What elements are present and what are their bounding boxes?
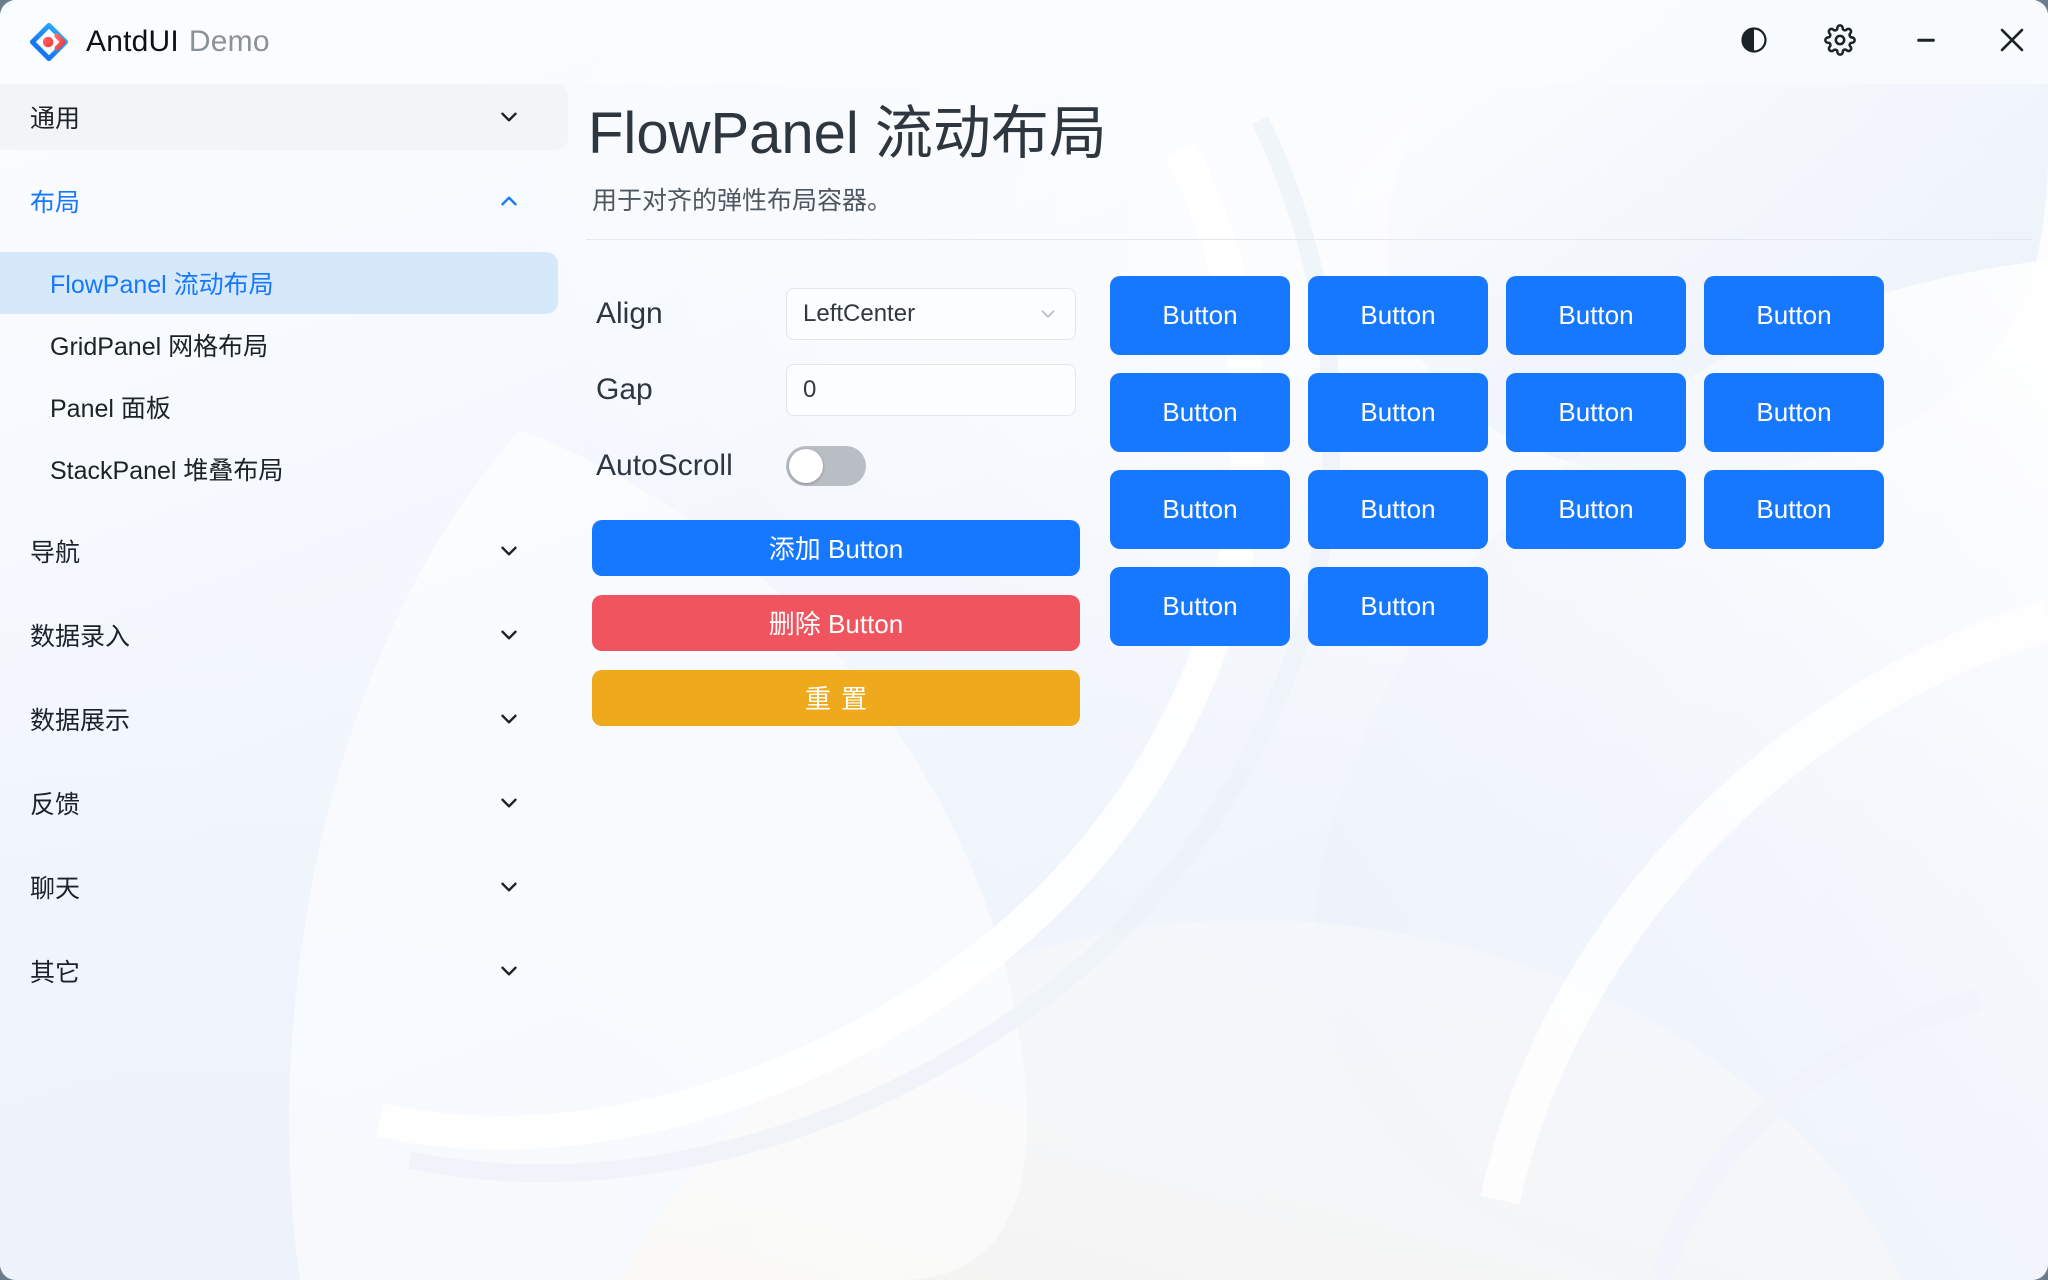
- reset-button-action[interactable]: 重置: [592, 670, 1080, 726]
- settings-button[interactable]: [1804, 11, 1876, 73]
- app-window: AntdUIDemo: [0, 0, 2048, 1280]
- app-title-name: AntdUI: [86, 25, 179, 58]
- flow-item-button[interactable]: Button: [1704, 373, 1884, 452]
- flow-item-button[interactable]: Button: [1506, 470, 1686, 549]
- close-button[interactable]: [1976, 11, 2048, 73]
- page-description: 用于对齐的弹性布局容器。: [592, 181, 2008, 217]
- sidebar-gap: [0, 500, 568, 518]
- sidebar-navigation: 通用 布局 FlowPanel 流动布局 GridPanel 网格布局: [0, 84, 568, 1280]
- demo-area: Align LeftCenter Gap: [582, 240, 2048, 1280]
- minimize-button[interactable]: [1890, 11, 1962, 73]
- sidebar-item-panel[interactable]: Panel 面板: [0, 376, 558, 438]
- flow-item-button[interactable]: Button: [1506, 276, 1686, 355]
- flow-item-button[interactable]: Button: [1308, 373, 1488, 452]
- sidebar-group-label: 导航: [30, 533, 496, 569]
- close-icon: [1995, 23, 2029, 62]
- sidebar-group-label: 数据展示: [30, 701, 496, 737]
- gap-label: Gap: [586, 373, 786, 407]
- minimize-icon: [1911, 25, 1941, 60]
- sidebar-group-buju[interactable]: 布局: [0, 168, 568, 234]
- sidebar-item-gridpanel[interactable]: GridPanel 网格布局: [0, 314, 558, 376]
- sidebar-item-label: StackPanel 堆叠布局: [50, 451, 283, 487]
- app-title: AntdUIDemo: [86, 25, 270, 59]
- flow-item-button[interactable]: Button: [1704, 470, 1884, 549]
- flow-item-button[interactable]: Button: [1308, 470, 1488, 549]
- sidebar-gap: [0, 920, 568, 938]
- app-title-suffix: Demo: [189, 25, 270, 58]
- sidebar-group-shujuluru[interactable]: 数据录入: [0, 602, 568, 668]
- flow-item-button[interactable]: Button: [1110, 276, 1290, 355]
- chevron-down-icon: [496, 538, 522, 564]
- sidebar-item-label: FlowPanel 流动布局: [50, 265, 274, 301]
- autoscroll-toggle[interactable]: [786, 446, 866, 486]
- align-select[interactable]: LeftCenter: [786, 288, 1076, 340]
- contrast-icon: [1739, 25, 1769, 60]
- sidebar-gap: [0, 584, 568, 602]
- title-bar: AntdUIDemo: [0, 0, 2048, 84]
- sidebar-gap: [0, 668, 568, 686]
- gap-input-value: 0: [803, 376, 816, 404]
- theme-toggle-button[interactable]: [1718, 11, 1790, 73]
- sidebar-group-label: 聊天: [30, 869, 496, 905]
- flow-item-button[interactable]: Button: [1308, 276, 1488, 355]
- sidebar-gap: [0, 752, 568, 770]
- add-button-action[interactable]: 添加 Button: [592, 520, 1080, 576]
- sidebar-item-stackpanel[interactable]: StackPanel 堆叠布局: [0, 438, 558, 500]
- sidebar-group-fankui[interactable]: 反馈: [0, 770, 568, 836]
- sidebar-item-flowpanel[interactable]: FlowPanel 流动布局: [0, 252, 558, 314]
- autoscroll-control: [786, 446, 1096, 486]
- gear-icon: [1824, 24, 1856, 61]
- sidebar-group-label: 布局: [30, 183, 496, 219]
- sidebar-item-label: GridPanel 网格布局: [50, 327, 268, 363]
- flow-item-button[interactable]: Button: [1506, 373, 1686, 452]
- autoscroll-row: AutoScroll: [586, 428, 1096, 504]
- align-control: LeftCenter: [786, 288, 1096, 340]
- window-body: 通用 布局 FlowPanel 流动布局 GridPanel 网格布局: [0, 84, 2048, 1280]
- sidebar-group-label: 数据录入: [30, 617, 496, 653]
- sidebar-gap: [0, 150, 568, 168]
- flow-item-button[interactable]: Button: [1110, 373, 1290, 452]
- chevron-down-icon: [496, 104, 522, 130]
- sidebar-group-label: 反馈: [30, 785, 496, 821]
- flow-item-button[interactable]: Button: [1704, 276, 1884, 355]
- chevron-down-icon: [496, 706, 522, 732]
- sidebar-gap: [0, 234, 568, 252]
- flow-panel: ButtonButtonButtonButtonButtonButtonButt…: [1110, 276, 1910, 664]
- page-title: FlowPanel 流动布局: [588, 98, 2008, 171]
- chevron-down-icon: [1037, 303, 1059, 325]
- align-row: Align LeftCenter: [586, 276, 1096, 352]
- main-content: FlowPanel 流动布局 用于对齐的弹性布局容器。 Align LeftCe…: [568, 84, 2048, 1280]
- page-header: FlowPanel 流动布局 用于对齐的弹性布局容器。: [582, 84, 2048, 217]
- sidebar-group-daohang[interactable]: 导航: [0, 518, 568, 584]
- align-label: Align: [586, 297, 786, 331]
- sidebar-group-liaotian[interactable]: 聊天: [0, 854, 568, 920]
- sidebar-group-shujuzhanshi[interactable]: 数据展示: [0, 686, 568, 752]
- flow-item-button[interactable]: Button: [1110, 567, 1290, 646]
- chevron-up-icon: [496, 188, 522, 214]
- delete-button-action[interactable]: 删除 Button: [592, 595, 1080, 651]
- sidebar-group-tongyong[interactable]: 通用: [0, 84, 568, 150]
- sidebar-gap: [0, 836, 568, 854]
- sidebar-group-qita[interactable]: 其它: [0, 938, 568, 1004]
- gap-control: 0: [786, 364, 1096, 416]
- sidebar-item-label: Panel 面板: [50, 389, 171, 425]
- gap-input[interactable]: 0: [786, 364, 1076, 416]
- flow-panel-column: ButtonButtonButtonButtonButtonButtonButt…: [1096, 276, 2048, 1280]
- antdui-logo-icon: [28, 21, 70, 63]
- gap-row: Gap 0: [586, 352, 1096, 428]
- align-select-value: LeftCenter: [803, 300, 1037, 328]
- toggle-knob: [789, 449, 823, 483]
- controls-column: Align LeftCenter Gap: [586, 276, 1096, 1280]
- flow-item-button[interactable]: Button: [1110, 470, 1290, 549]
- autoscroll-label: AutoScroll: [586, 449, 786, 483]
- chevron-down-icon: [496, 958, 522, 984]
- sidebar-group-label: 其它: [30, 953, 496, 989]
- sidebar-group-label: 通用: [30, 99, 496, 135]
- flow-item-button[interactable]: Button: [1308, 567, 1488, 646]
- chevron-down-icon: [496, 874, 522, 900]
- chevron-down-icon: [496, 790, 522, 816]
- chevron-down-icon: [496, 622, 522, 648]
